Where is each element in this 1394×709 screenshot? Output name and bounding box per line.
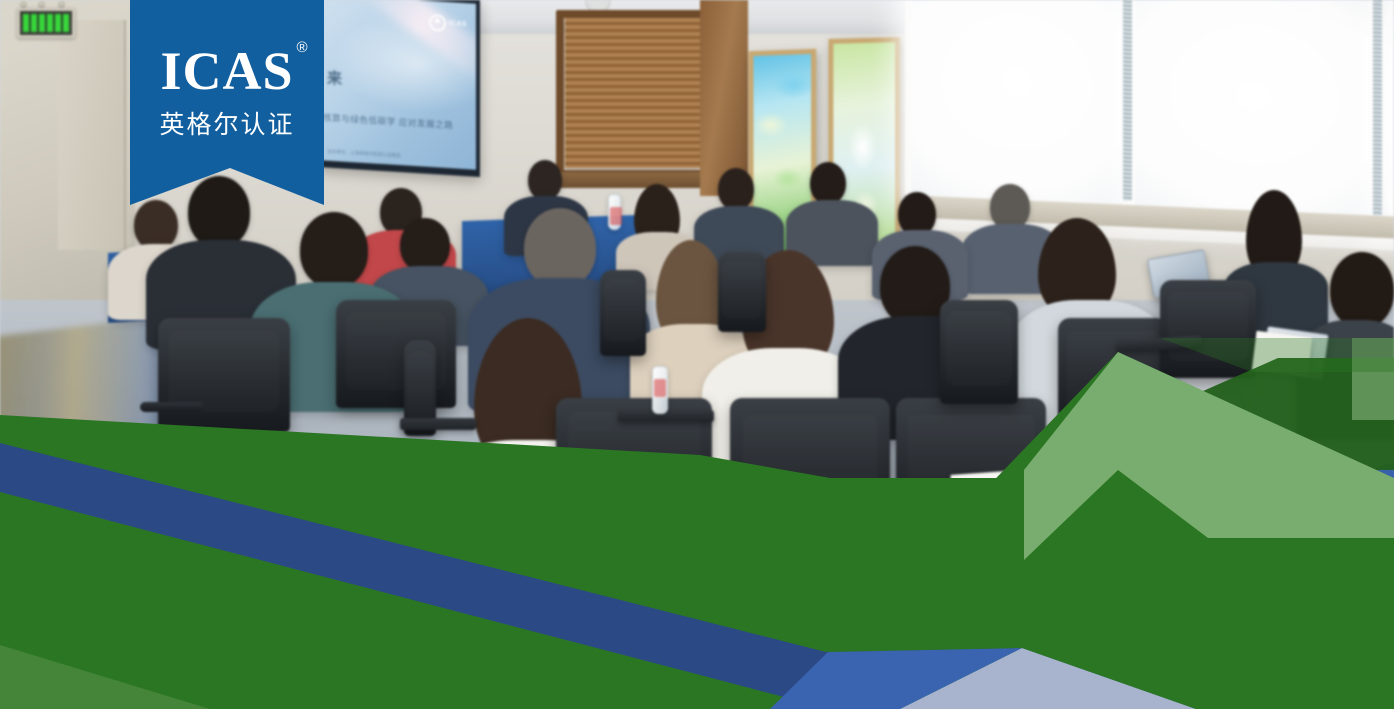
documents — [1252, 331, 1312, 378]
icas-logo-text: ICAS ® 英格尔认证 — [130, 44, 324, 141]
slide-footer: 主办单位：上海英格尔检测认证集团 — [327, 149, 447, 163]
chair — [730, 398, 890, 538]
slide-logo-mark: ICAS — [449, 20, 467, 28]
exit-sign-led — [23, 14, 69, 32]
icas-wordmark: ICAS ® — [160, 44, 293, 98]
window-sill — [556, 172, 710, 188]
chair — [718, 252, 766, 332]
window-pane-1 — [911, 0, 1123, 207]
chair — [1058, 318, 1168, 428]
chair — [600, 270, 646, 356]
icas-logo: ICAS ® 英格尔认证 — [130, 0, 324, 210]
window-frame — [556, 10, 709, 178]
window-pane-3 — [1383, 0, 1394, 231]
chair — [1160, 280, 1256, 378]
door — [58, 20, 126, 250]
window-mullion-1 — [1123, 0, 1132, 201]
documents — [950, 465, 1093, 523]
exit-sign — [17, 8, 75, 38]
banner-image: ICAS 来 核算与绿色低碳学 应对发展之路 主办单位：上海英格尔检测认证集团 — [0, 0, 1394, 709]
projection-screen: ICAS 来 核算与绿色低碳学 应对发展之路 主办单位：上海英格尔检测认证集团 — [318, 0, 480, 177]
chair-armrest — [140, 402, 204, 412]
window-pane-2 — [1135, 0, 1373, 224]
exit-sign-mounts — [20, 1, 66, 9]
slide-logo-ring-icon — [429, 14, 446, 32]
chair — [940, 300, 1018, 404]
slide-subtitle: 核算与绿色低碳学 应对发展之路 — [323, 111, 476, 133]
window-mullion-2 — [1373, 0, 1382, 222]
chair-tablet-arm — [400, 418, 476, 430]
projection-screen-surface: ICAS 来 核算与绿色低碳学 应对发展之路 主办单位：上海英格尔检测认证集团 — [321, 0, 476, 170]
water-bottle — [608, 194, 621, 230]
slide-title: 来 — [327, 67, 343, 89]
slide-logo: ICAS — [429, 14, 467, 33]
icas-chinese-name: 英格尔认证 — [130, 105, 324, 141]
water-bottle — [652, 366, 668, 414]
chair — [336, 300, 456, 408]
wood-pillar — [700, 0, 748, 196]
chair — [158, 318, 290, 432]
icas-wordmark-text: ICAS — [160, 41, 293, 101]
registered-trademark-icon: ® — [296, 40, 308, 55]
